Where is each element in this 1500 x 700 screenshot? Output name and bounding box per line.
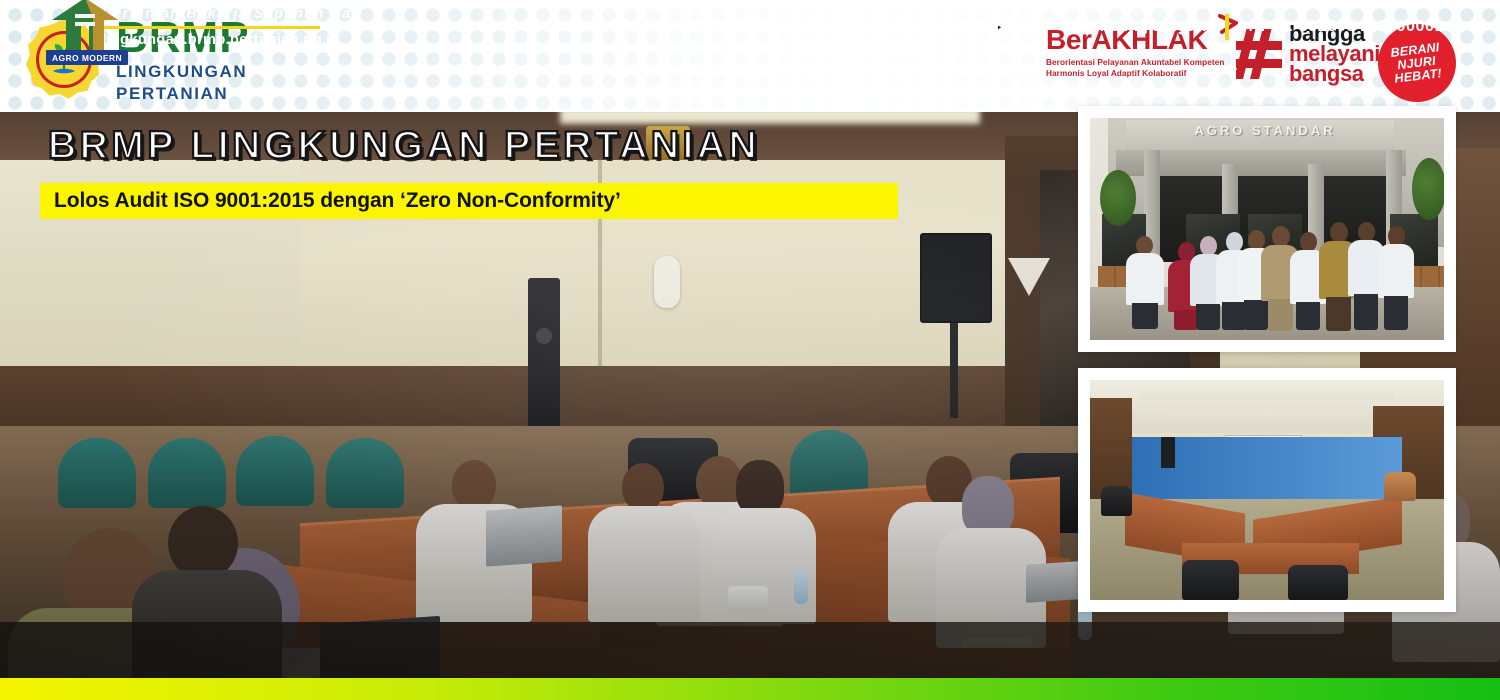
laptop bbox=[486, 505, 562, 566]
photo-meeting-room bbox=[1090, 380, 1444, 600]
wall-sconce bbox=[1008, 258, 1050, 296]
tissue-box bbox=[728, 586, 768, 610]
poster-canvas: BRMP LINGKUNGAN PERTANIAN BerAKHLAK Bero… bbox=[0, 0, 1500, 700]
water-bottle bbox=[794, 570, 808, 604]
subtitle-banner: Lolos Audit ISO 9001:2015 dengan ‘Zero N… bbox=[40, 183, 898, 219]
subtitle-text: Lolos Audit ISO 9001:2015 dengan ‘Zero N… bbox=[40, 189, 621, 213]
meeting-chair bbox=[326, 438, 404, 508]
footer-left-block: Pertanian Bekerja Sepenuh Hati lingkunga… bbox=[102, 6, 363, 48]
instagram-icon[interactable] bbox=[916, 14, 942, 40]
footer-tagline: Pertanian Bekerja Sepenuh Hati bbox=[102, 6, 363, 22]
facebook-icon[interactable] bbox=[881, 14, 907, 40]
bangga-line3: bangsa bbox=[1289, 64, 1380, 84]
berakhlak-values-line2: Harmonis Loyal Adaptif Kolaboratif bbox=[1046, 69, 1226, 80]
photo-card-group[interactable]: AGRO STANDAR bbox=[1078, 106, 1456, 352]
footer-website-url[interactable]: lingkungan.brmp.pertanian.go.id bbox=[102, 32, 363, 48]
title-block: BRMP LINGKUNGAN PERTANIAN Lolos Audit IS… bbox=[0, 126, 898, 219]
poster-title: BRMP LINGKUNGAN PERTANIAN bbox=[48, 126, 898, 165]
meeting-chair bbox=[148, 438, 226, 508]
agro-modern-label-badge: AGRO MODERN bbox=[46, 50, 128, 65]
youtube-icon[interactable] bbox=[986, 14, 1012, 40]
photo-card-meeting[interactable] bbox=[1078, 368, 1456, 612]
speaker-tower bbox=[528, 278, 560, 428]
footer-bar bbox=[0, 622, 1500, 678]
bottom-gradient-strip bbox=[0, 678, 1500, 700]
laptop bbox=[1026, 561, 1080, 603]
tiktok-icon[interactable] bbox=[951, 14, 977, 40]
footer-social-block: @brmplingkungan NPP : 3318064A0000001 bbox=[881, 14, 1445, 40]
wall-lamp bbox=[654, 256, 680, 308]
agro-modern-label: AGRO MODERN bbox=[52, 53, 122, 63]
berakhlak-values-line1: Berorientasi Pelayanan Akuntabel Kompete… bbox=[1046, 58, 1226, 69]
social-handle: @brmplingkungan bbox=[1063, 18, 1207, 36]
footer-divider bbox=[102, 26, 320, 29]
agro-modern-logo: AGRO MODERN bbox=[38, 0, 134, 72]
x-twitter-icon[interactable] bbox=[1021, 14, 1047, 40]
monitor-stand bbox=[950, 323, 958, 418]
meeting-chair bbox=[58, 438, 136, 508]
wall-monitor bbox=[920, 233, 992, 323]
footer-vertical-divider bbox=[1225, 14, 1229, 40]
npp-number: NPP : 3318064A0000001 bbox=[1248, 18, 1444, 36]
agro-modern-icon bbox=[48, 0, 122, 56]
brand-sub-line1: LINGKUNGAN bbox=[116, 62, 250, 81]
photo-group-in-front-of-building: AGRO STANDAR bbox=[1090, 118, 1444, 340]
building-sign-text: AGRO STANDAR bbox=[1140, 123, 1390, 138]
brand-sub-line2: PERTANIAN bbox=[116, 84, 250, 103]
meeting-chair bbox=[236, 436, 314, 506]
